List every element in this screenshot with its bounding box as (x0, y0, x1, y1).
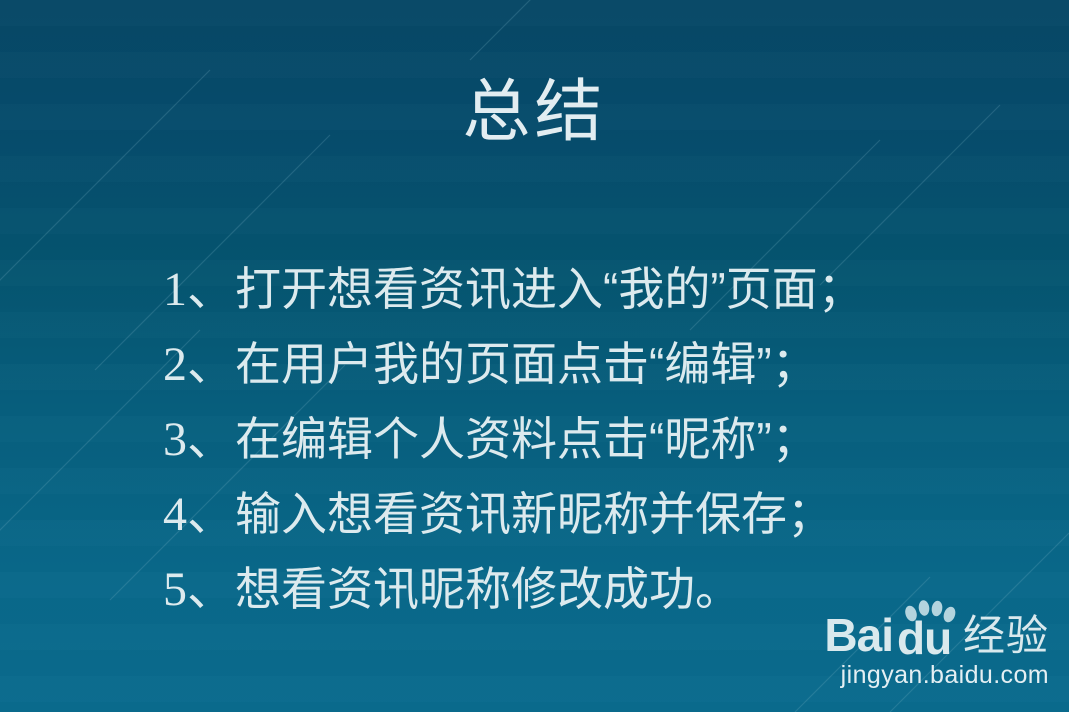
list-item-number: 4、 (163, 488, 235, 541)
baidu-logo-du: du (897, 618, 951, 658)
list-item: 1、打开想看资讯进入“我的”页面； (163, 252, 1023, 327)
jingyan-label: 经验 (963, 614, 1049, 658)
watermark-url: jingyan.baidu.com (799, 660, 1049, 690)
baidu-logo-du-group: du (897, 602, 959, 658)
baidu-logo: Bai du 经验 (799, 602, 1049, 658)
list-item: 3、在编辑个人资料点击“昵称”； (163, 402, 1023, 477)
list-item-number: 1、 (163, 263, 235, 316)
list-item-text: 输入想看资讯新昵称并保存； (235, 488, 833, 540)
page-title: 总结 (0, 78, 1069, 146)
baidu-jingyan-watermark: Bai du 经验 jingyan.baidu.com (799, 602, 1049, 694)
list-item-number: 3、 (163, 413, 235, 466)
list-item-text: 想看资讯昵称修改成功。 (235, 563, 741, 615)
list-item-text: 在编辑个人资料点击“昵称”； (235, 413, 818, 465)
presentation-slide: 总结 1、打开想看资讯进入“我的”页面； 2、在用户我的页面点击“编辑”； 3、… (0, 0, 1069, 712)
list-item-number: 5、 (163, 563, 235, 616)
list-item-text: 在用户我的页面点击“编辑”； (235, 338, 818, 390)
list-item: 2、在用户我的页面点击“编辑”； (163, 327, 1023, 402)
list-item-text: 打开想看资讯进入“我的”页面； (235, 263, 864, 315)
list-item-number: 2、 (163, 338, 235, 391)
list-item: 4、输入想看资讯新昵称并保存； (163, 477, 1023, 552)
baidu-logo-bai: Bai (824, 612, 893, 658)
steps-list: 1、打开想看资讯进入“我的”页面； 2、在用户我的页面点击“编辑”； 3、在编辑… (163, 252, 1023, 627)
